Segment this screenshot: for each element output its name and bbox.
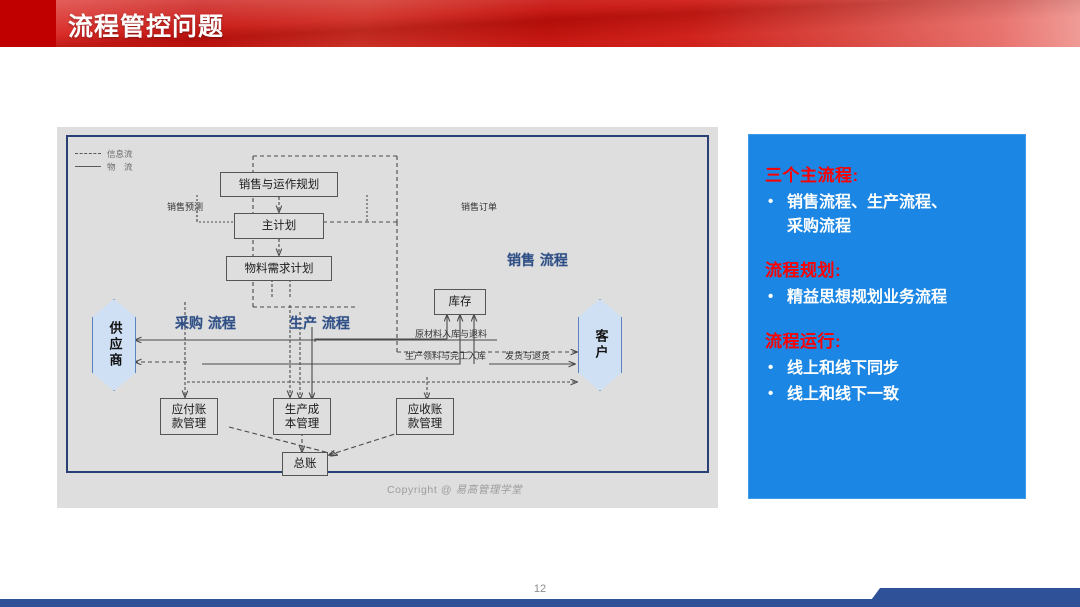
page-title: 流程管控问题 [68,7,224,43]
solid-line-icon [75,166,101,167]
legend-item-material-flow: 物 流 [75,160,185,173]
box-accounts-receivable: 应收账 款管理 [396,398,454,435]
bullet-icon: • [765,191,787,214]
bullet-item: • 线上和线下一致 [765,383,1009,407]
box-accounts-payable: 应付账 款管理 [160,398,218,435]
title-bar: 流程管控问题 [0,0,1080,47]
bullet-icon: • [765,383,787,406]
legend-item-info-flow: 信息流 [75,147,185,160]
entity-customer: 客户 [578,299,622,391]
box-material-requirement-plan: 物料需求计划 [226,256,332,281]
bullet-icon: • [765,357,787,380]
copyright-owner: 易高管理学堂 [456,484,523,496]
bullet-icon: • [765,286,787,309]
bullet-text: 线上和线下同步 [787,357,899,381]
bullet-text: 线上和线下一致 [787,383,899,407]
point-group-process-planning: 流程规划: • 精益思想规划业务流程 [765,256,1009,310]
entity-supplier: 供应商 [92,299,136,391]
footer-accent-shape [866,588,1080,607]
diagram-copyright: Copyright @ 易高管理学堂 [387,482,522,497]
point-heading-process-operation: 流程运行: [765,327,1009,352]
legend-label-material-flow: 物 流 [107,161,133,173]
legend-label-info-flow: 信息流 [107,148,133,160]
slide-root: 流程管控问题 [0,0,1080,607]
flow-label-sales: 销售 流程 [507,250,568,270]
annotation-sales-order: 销售订单 [461,200,497,213]
flow-label-purchase: 采购 流程 [175,313,236,333]
entity-supplier-label: 供应商 [105,321,124,369]
diagram-legend: 信息流 物 流 [75,147,185,173]
box-sales-operations-planning: 销售与运作规划 [220,172,338,197]
copyright-prefix: Copyright @ [387,484,456,496]
box-master-plan: 主计划 [234,213,324,239]
bullet-item: • 销售流程、生产流程、 采购流程 [765,191,1009,239]
box-inventory: 库存 [434,289,486,315]
box-general-ledger: 总账 [282,452,328,476]
flow-label-production: 生产 流程 [289,313,350,333]
key-points-panel: 三个主流程: • 销售流程、生产流程、 采购流程 流程规划: • 精益思想规划业… [748,134,1026,499]
dashed-line-icon [75,153,101,154]
bullet-text: 销售流程、生产流程、 采购流程 [787,191,947,239]
entity-customer-label: 客户 [591,329,610,361]
annotation-sales-forecast: 销售预测 [167,200,203,213]
annotation-production-issue: 生产领料与完工入库 [405,349,486,362]
bullet-text: 精益思想规划业务流程 [787,286,947,310]
annotation-raw-material-in: 原材料入库与退料 [415,327,487,340]
point-group-main-processes: 三个主流程: • 销售流程、生产流程、 采购流程 [765,161,1009,239]
bullet-item: • 线上和线下同步 [765,357,1009,381]
box-production-cost: 生产成 本管理 [273,398,331,435]
bullet-item: • 精益思想规划业务流程 [765,286,1009,310]
annotation-shipment-return: 发货与退货 [505,349,550,362]
title-bar-left-block [0,0,56,47]
process-diagram: 信息流 物 流 销售与运作规划 主计划 物料需求计划 库存 应付账 款管理 生产… [57,127,718,508]
point-heading-main-processes: 三个主流程: [765,161,1009,186]
point-heading-process-planning: 流程规划: [765,256,1009,281]
point-group-process-operation: 流程运行: • 线上和线下同步 • 线上和线下一致 [765,327,1009,407]
